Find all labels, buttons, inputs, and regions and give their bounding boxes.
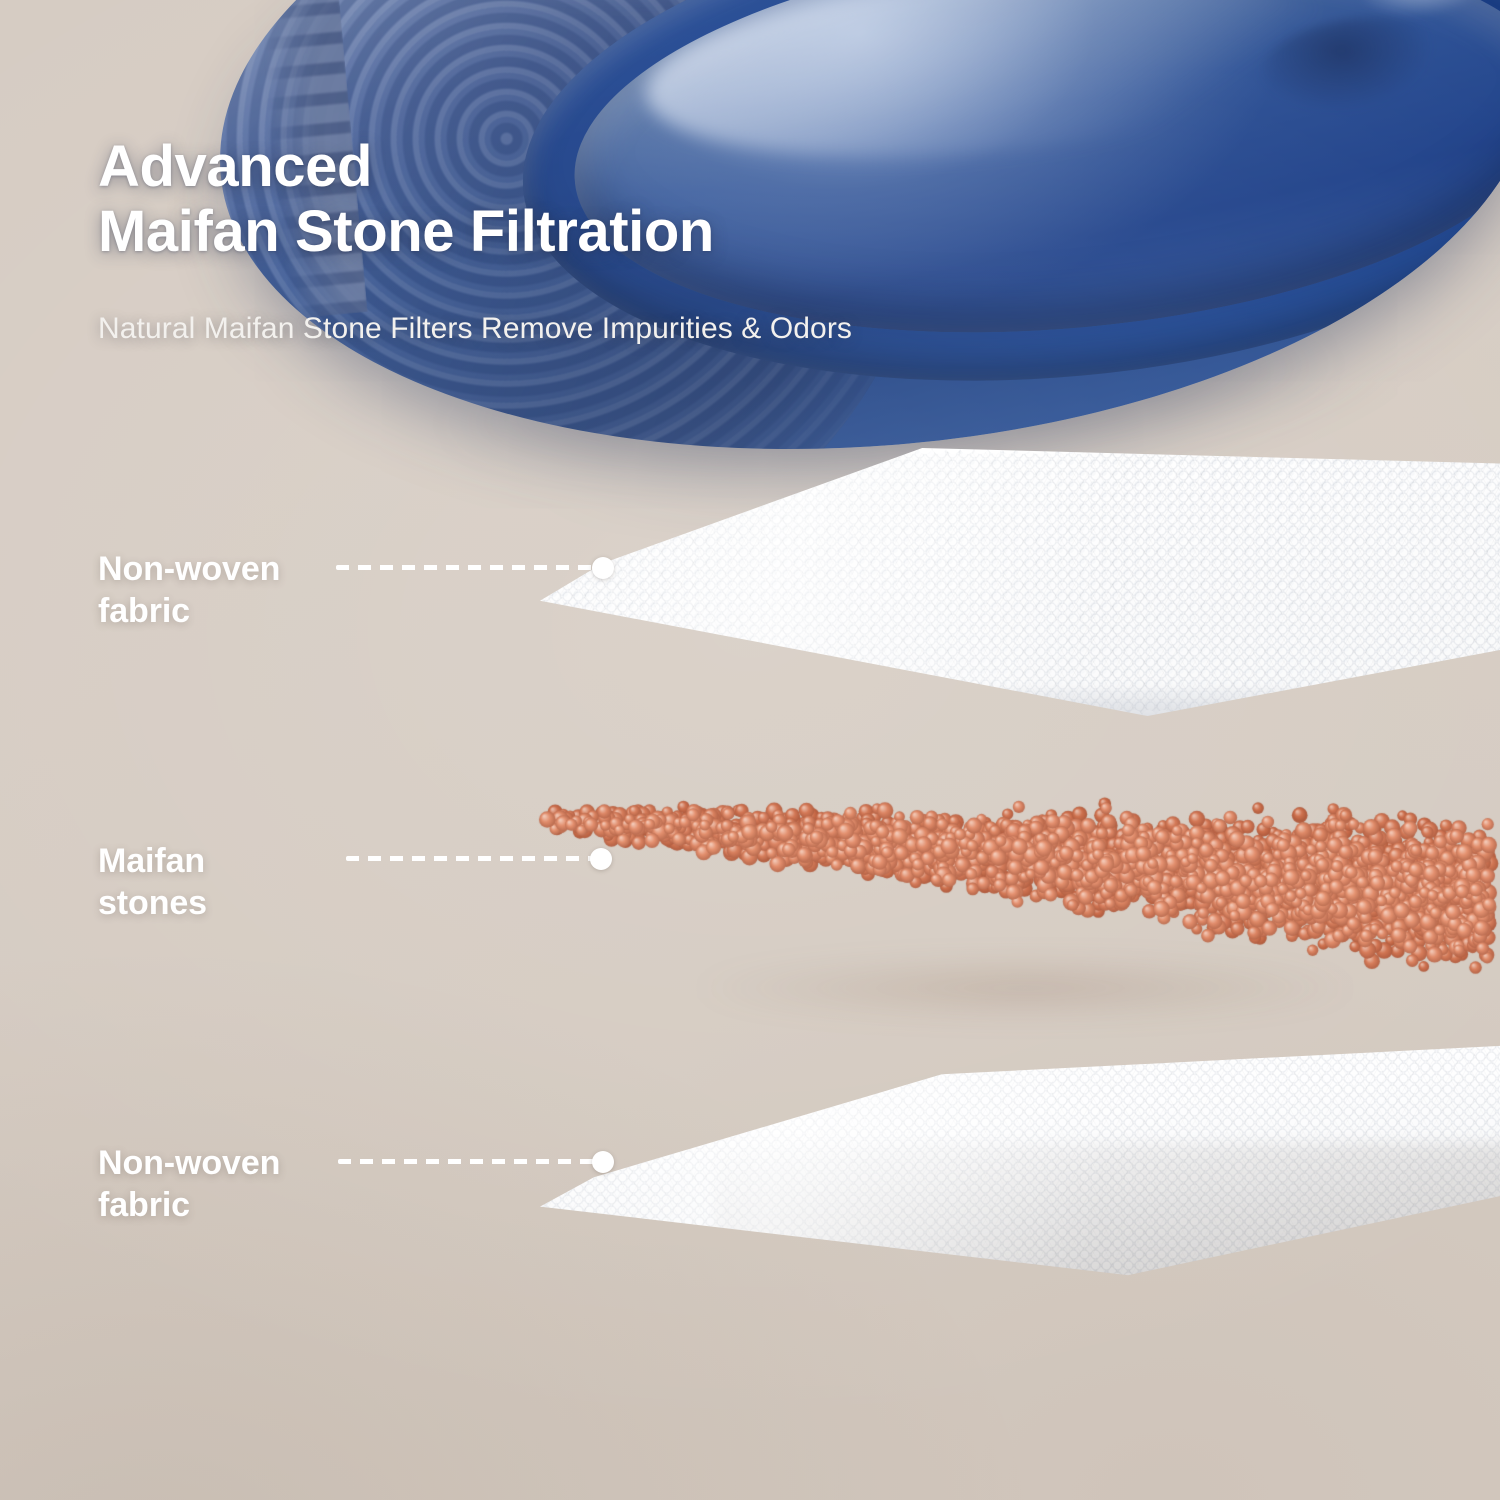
page-subtitle: Natural Maifan Stone Filters Remove Impu… <box>98 312 1178 346</box>
fabric-sheen <box>540 1040 1500 1285</box>
callout-label: Maifan stones <box>98 840 207 924</box>
leader-dot-maifan-stones <box>590 848 612 870</box>
infographic-canvas: Advanced Maifan Stone Filtration Natural… <box>0 0 1500 1500</box>
page-title: Advanced Maifan Stone Filtration <box>98 135 1078 265</box>
fabric-scallop-bottom-edge <box>540 1278 1500 1294</box>
callout-label: Non-woven fabric <box>98 1142 280 1226</box>
callout-label: Non-woven fabric <box>98 548 280 632</box>
fabric-bottom-shading <box>540 682 1500 716</box>
leader-line-bottom-fabric <box>338 1159 598 1164</box>
leader-line-top-fabric <box>336 565 598 570</box>
callout-non-woven-fabric-top: Non-woven fabric <box>98 548 280 632</box>
layer-non-woven-fabric-bottom <box>540 1040 1500 1285</box>
fabric-scallop-top-edge <box>540 1031 1500 1047</box>
leader-dot-bottom-fabric <box>592 1151 614 1173</box>
maifan-stone-particles <box>535 735 1500 1025</box>
fabric-scallop-bottom-edge <box>540 709 1500 725</box>
leader-dot-top-fabric <box>592 557 614 579</box>
layer-maifan-stone-granules <box>535 735 1500 1025</box>
leader-line-maifan-stones <box>346 856 594 861</box>
callout-maifan-stones: Maifan stones <box>98 840 207 924</box>
callout-non-woven-fabric-bottom: Non-woven fabric <box>98 1142 280 1226</box>
